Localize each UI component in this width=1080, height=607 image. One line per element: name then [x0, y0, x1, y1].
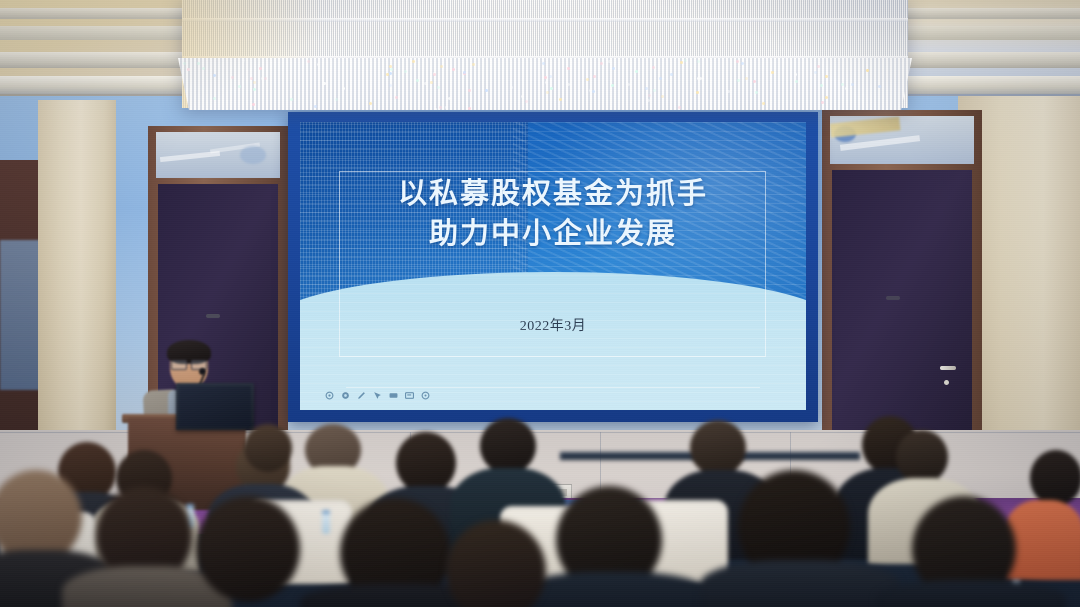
chandelier-sparkle	[699, 77, 702, 80]
chandelier-sparkle	[841, 83, 844, 86]
chandelier-sparkle	[253, 88, 256, 91]
chandelier-sparkle	[845, 87, 848, 90]
chandelier-sparkle	[259, 67, 262, 70]
chandelier-sparkle	[264, 77, 267, 80]
chandelier-sparkle	[242, 59, 245, 62]
crystal-chandelier	[182, 0, 908, 108]
chandelier-sparkle	[448, 97, 451, 100]
chandelier-sparkle	[468, 89, 471, 92]
chandelier-sparkle	[825, 96, 828, 99]
chandelier-sparkle	[544, 76, 547, 79]
chandelier-sparkle	[821, 101, 824, 104]
chandelier-sparkle	[680, 61, 683, 64]
chandelier-sparkle	[416, 79, 419, 82]
chandelier-sparkle	[653, 89, 656, 92]
chandelier-sparkle	[648, 94, 651, 97]
chandelier-sparkle	[771, 71, 774, 74]
chandelier-sparkle	[645, 87, 648, 90]
chandelier-sparkle	[424, 82, 427, 85]
chandelier-sparkle	[390, 68, 393, 71]
chandelier-sparkle	[697, 60, 700, 63]
chandelier-sparkle	[794, 73, 797, 76]
chandelier-sparkle	[412, 60, 415, 63]
chandelier-sparkle	[627, 83, 630, 86]
chandelier-sparkle	[755, 91, 758, 94]
chandelier-sparkle	[253, 81, 256, 84]
chandelier-sparkle	[817, 65, 820, 68]
chandelier-sparkle	[727, 90, 730, 93]
cursor-icon[interactable]	[373, 391, 382, 400]
wooden-door-right[interactable]	[832, 170, 972, 438]
chandelier-sparkle	[878, 85, 881, 88]
chandelier-sparkle	[231, 76, 234, 79]
chandelier-sparkle	[250, 77, 253, 80]
chandelier-sparkle	[589, 89, 592, 92]
chandelier-sparkle	[202, 67, 205, 70]
chandelier-sparkle	[445, 106, 448, 109]
chandelier-sparkle	[736, 60, 739, 63]
settings-icon[interactable]	[325, 391, 334, 400]
chandelier-sparkle	[389, 84, 392, 87]
chandelier-sparkle	[546, 91, 549, 94]
chandelier-sparkle	[213, 74, 216, 77]
chandelier-sparkle	[213, 97, 216, 100]
chandelier-sparkle	[323, 82, 326, 85]
chandelier-sparkle	[678, 106, 681, 109]
presentation-toolbar[interactable]	[325, 391, 430, 400]
chandelier-sparkle	[183, 62, 186, 65]
chandelier-sparkle	[433, 73, 436, 76]
chandelier-sparkle	[652, 66, 655, 69]
chandelier-sparkle	[820, 84, 823, 87]
chandelier-sparkle	[545, 81, 548, 84]
door-handle-icon[interactable]	[940, 366, 956, 370]
chandelier-sparkle	[559, 98, 562, 101]
chandelier-sparkle	[866, 69, 869, 72]
chandelier-sparkle	[335, 98, 338, 101]
chandelier-sparkle	[439, 106, 442, 109]
chandelier-sparkle	[670, 73, 673, 76]
screen-icon[interactable]	[389, 391, 398, 400]
laptop-screen	[179, 386, 251, 427]
chandelier-sparkle	[510, 86, 513, 89]
gear-icon[interactable]	[341, 391, 350, 400]
chandelier-sparkle	[608, 60, 611, 63]
chandelier-sparkle	[389, 72, 392, 75]
chandelier-sparkle	[440, 65, 443, 68]
chandelier-sparkle	[437, 86, 440, 89]
pen-icon[interactable]	[357, 391, 366, 400]
led-screen[interactable]: 以私募股权基金为抓手 助力中小企业发展 2022年3月	[300, 122, 806, 410]
chandelier-sparkle	[593, 75, 596, 78]
chandelier-sparkle	[386, 73, 389, 76]
chandelier-sparkle	[753, 80, 756, 83]
chandelier-sparkle	[611, 84, 614, 87]
chandelier-sparkle	[745, 77, 748, 80]
chandelier-sparkle	[592, 90, 595, 93]
chandelier-sparkle	[600, 62, 603, 65]
chandelier-sparkle	[468, 107, 471, 110]
chandelier-sparkle	[659, 77, 662, 80]
chandelier-sparkle	[696, 91, 699, 94]
door-transom-left	[156, 132, 280, 178]
slide-date: 2022年3月	[300, 315, 806, 335]
presenter-laptop[interactable]	[176, 383, 254, 430]
chandelier-sparkle	[814, 71, 817, 74]
chandelier-sparkle	[307, 60, 310, 63]
door-lock-icon	[944, 380, 949, 385]
chandelier-sparkle	[452, 68, 455, 71]
chandelier-sparkle	[197, 62, 200, 65]
chandelier-sparkle	[661, 95, 664, 98]
chandelier-sparkle	[290, 98, 293, 101]
chandelier-sparkle	[741, 62, 744, 65]
chandelier-sparkle	[737, 79, 740, 82]
chandelier-sparkle	[635, 70, 638, 73]
chandelier-sparkle	[684, 59, 687, 62]
chandelier-sparkle	[825, 75, 828, 78]
gooseneck-microphone	[199, 368, 206, 375]
glasses-icon	[171, 360, 207, 368]
chandelier-sparkle	[314, 105, 317, 108]
chandelier-sparkle	[549, 75, 552, 78]
chandelier-sparkle	[430, 81, 433, 84]
beige-pillar-left	[38, 100, 116, 460]
slide-divider	[346, 387, 761, 388]
chandelier-sparkle	[525, 100, 528, 103]
chandelier-sparkle	[317, 63, 320, 66]
chandelier-sparkle	[550, 87, 553, 90]
chandelier-sparkle	[851, 83, 854, 86]
chandelier-sparkle	[485, 89, 488, 92]
chandelier-sparkle	[542, 62, 545, 65]
chandelier-sparkle	[586, 78, 589, 81]
conference-photo-scene: 以私募股权基金为抓手 助力中小企业发展 2022年3月	[0, 0, 1080, 607]
chandelier-sparkle	[252, 103, 255, 106]
chandelier-sparkle	[762, 102, 765, 105]
door-transom-right	[830, 116, 974, 164]
chandelier-sparkle	[404, 70, 407, 73]
water-bottle	[322, 510, 330, 534]
chandelier-sparkle	[342, 87, 345, 90]
slide-title: 以私募股权基金为抓手 助力中小企业发展	[300, 174, 806, 254]
chandelier-bottom-crystals	[178, 58, 912, 110]
wall-panel-reflection	[0, 240, 42, 390]
more-options-icon[interactable]	[421, 391, 430, 400]
chandelier-sparkle	[238, 85, 241, 88]
notes-icon[interactable]	[405, 391, 414, 400]
chandelier-sparkle	[369, 102, 372, 105]
chandelier-sparkle	[521, 95, 524, 98]
chandelier-sparkle	[567, 83, 570, 86]
chandelier-sparkle	[647, 99, 650, 102]
chandelier-sparkle	[472, 63, 475, 66]
chandelier-sparkle	[612, 67, 615, 70]
chandelier-sparkle	[395, 96, 398, 99]
chandelier-sparkle	[795, 80, 798, 83]
chandelier-sparkle	[567, 67, 570, 70]
chandelier-sparkle	[188, 68, 191, 71]
presentation-slide: 以私募股权基金为抓手 助力中小企业发展 2022年3月	[300, 122, 806, 410]
